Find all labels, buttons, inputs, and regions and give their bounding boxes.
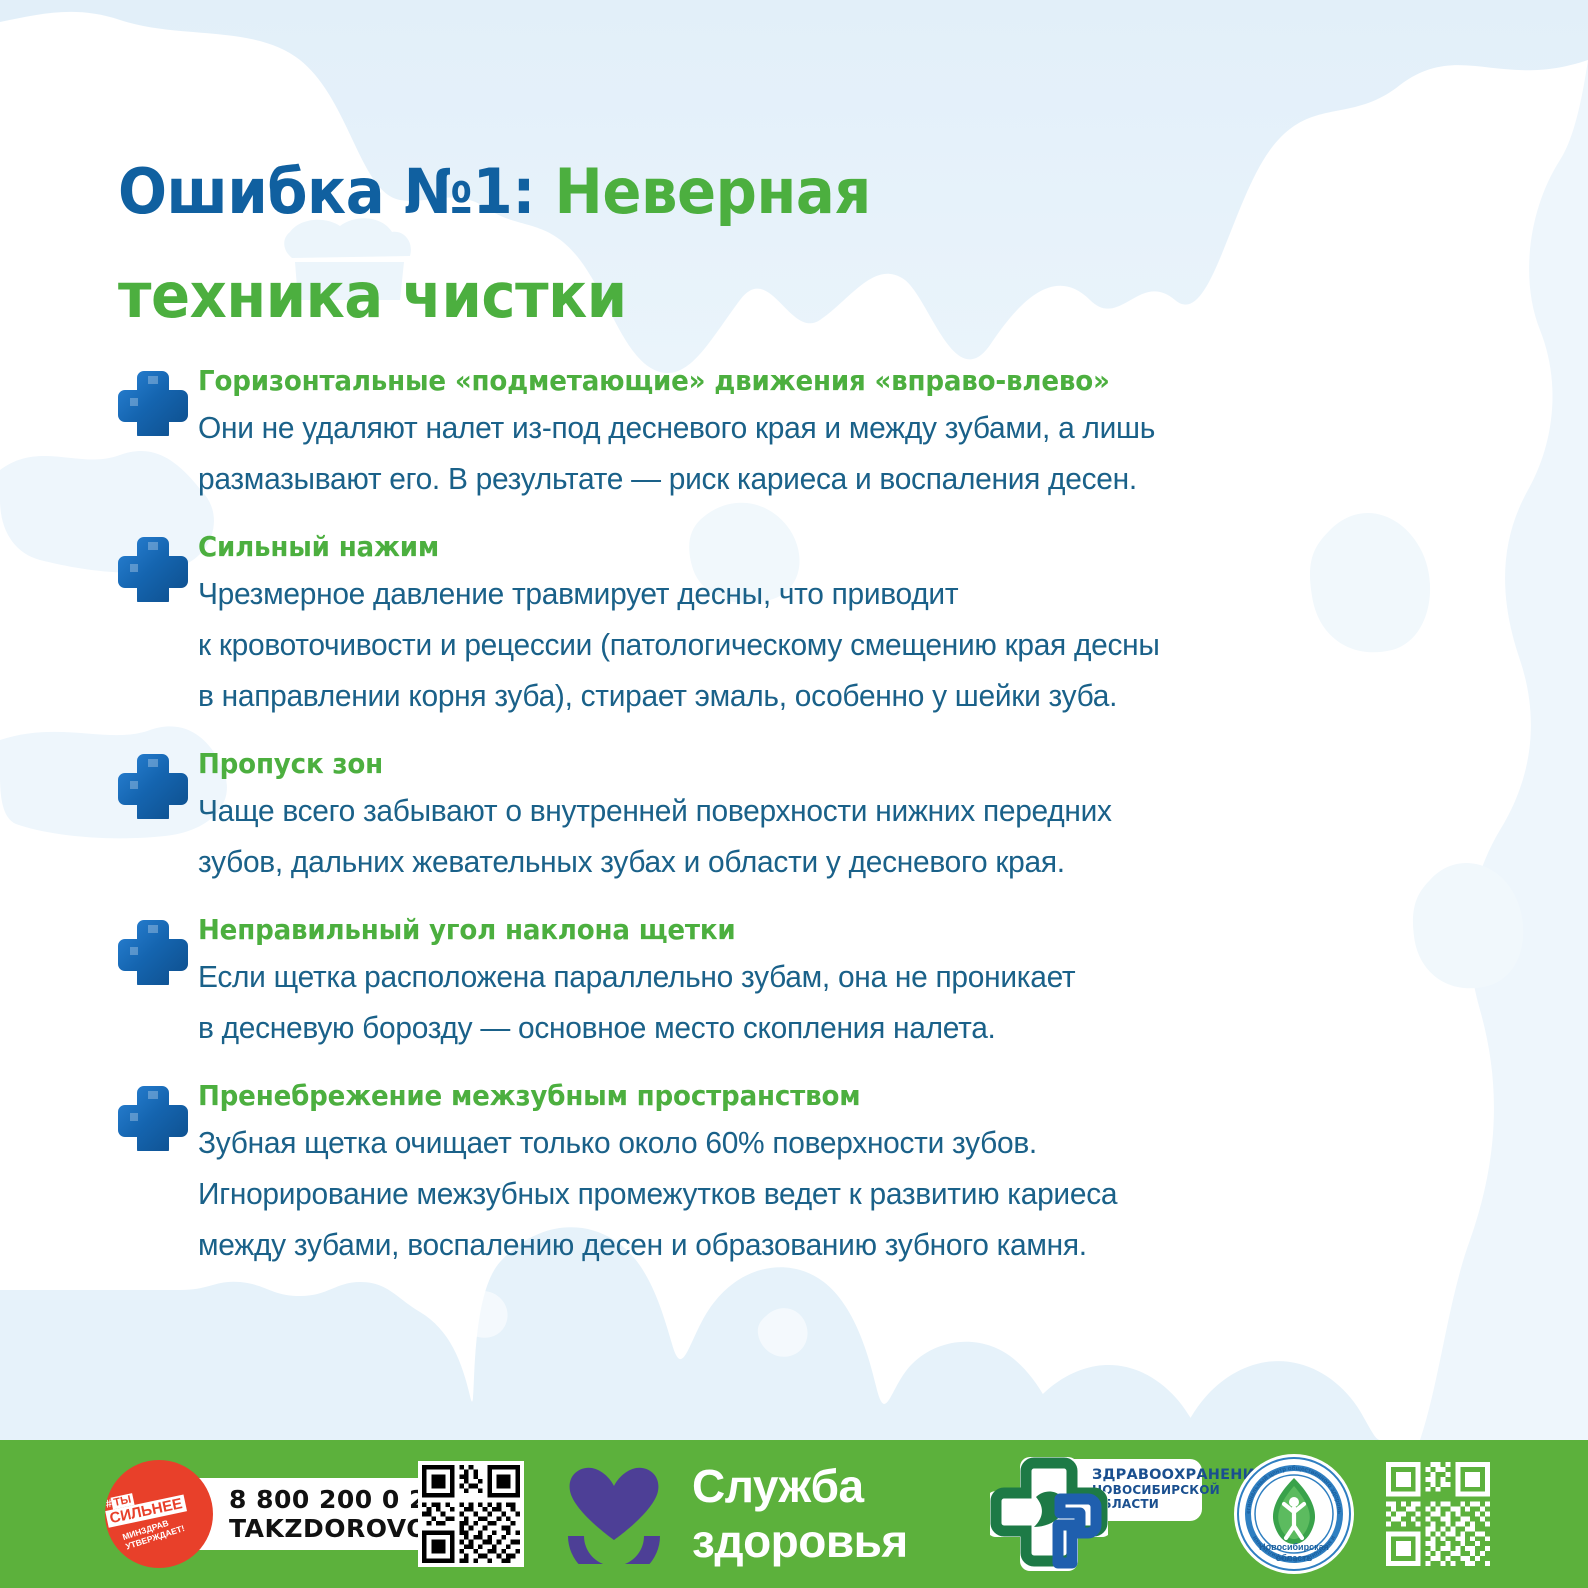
poster-content: Ошибка №1: Неверная техника чистки bbox=[0, 0, 1588, 1440]
list-item-text: Чрезмерное давление травмирует десны, чт… bbox=[198, 568, 1472, 721]
blue-cross-icon bbox=[118, 360, 194, 441]
footer-bar: #ТЫ СИЛЬНЕЕ МИНЗДРАВ УТВЕРЖДАЕТ! 8 800 2… bbox=[0, 1440, 1588, 1588]
seal-center-line-1: Новосибирская bbox=[1259, 1542, 1329, 1552]
sluzhba-line-1: Служба bbox=[692, 1459, 908, 1514]
list-item-heading: Сильный нажим bbox=[198, 526, 1452, 568]
title-line-2: техника чистки bbox=[118, 244, 1234, 348]
qr-code-icon[interactable] bbox=[1386, 1462, 1490, 1566]
list-item-body: Горизонтальные «подметающие» движения «в… bbox=[194, 360, 1518, 504]
list-item: Пропуск зон Чаще всего забывают о внутре… bbox=[118, 743, 1518, 887]
ty-silnee-stamp-icon: #ТЫ СИЛЬНЕЕ МИНЗДРАВ УТВЕРЖДАЕТ! bbox=[105, 1460, 213, 1568]
list-item: Горизонтальные «подметающие» движения «в… bbox=[118, 360, 1518, 504]
list-item-text: Они не удаляют налет из-под десневого кр… bbox=[198, 402, 1472, 504]
seal-center-line-2: область bbox=[1276, 1553, 1313, 1563]
list-item-body: Пропуск зон Чаще всего забывают о внутре… bbox=[194, 743, 1518, 887]
title-line-1: Ошибка №1: Неверная bbox=[118, 140, 1234, 244]
text-line: размазывают его. В результате — риск кар… bbox=[198, 453, 1472, 504]
sluzhba-zdorovya-block: Служба здоровья bbox=[560, 1459, 908, 1569]
list-item-body: Неправильный угол наклона щетки Если щет… bbox=[194, 909, 1518, 1053]
text-line: в десневую борозду — основное место скоп… bbox=[198, 1002, 1472, 1053]
blue-cross-icon bbox=[118, 1075, 194, 1156]
text-line: Они не удаляют налет из-под десневого кр… bbox=[198, 402, 1472, 453]
list-item-text: Зубная щетка очищает только около 60% по… bbox=[198, 1117, 1472, 1270]
list-item-text: Чаще всего забывают о внутренней поверхн… bbox=[198, 785, 1472, 887]
list-item: Сильный нажим Чрезмерное давление травми… bbox=[118, 526, 1518, 721]
text-line: к кровоточивости и рецессии (патологичес… bbox=[198, 619, 1472, 670]
text-line: Чаще всего забывают о внутренней поверхн… bbox=[198, 785, 1472, 836]
text-line: в направлении корня зуба), стирает эмаль… bbox=[198, 670, 1472, 721]
sluzhba-zdorovya-text: Служба здоровья bbox=[692, 1459, 908, 1569]
qr-code-icon[interactable] bbox=[418, 1461, 524, 1567]
list-item-heading: Пренебрежение межзубным пространством bbox=[198, 1075, 1452, 1117]
text-line: Чрезмерное давление травмирует десны, чт… bbox=[198, 568, 1472, 619]
text-line: зубов, дальних жевательных зубах и облас… bbox=[198, 836, 1472, 887]
sluzhba-line-2: здоровья bbox=[692, 1514, 908, 1569]
heart-smile-icon bbox=[560, 1464, 668, 1564]
title-line-2-text: техника чистки bbox=[118, 259, 627, 332]
text-line: Зубная щетка очищает только около 60% по… bbox=[198, 1117, 1472, 1168]
minzdrav-nso-block: ЗДРАВООХРАНЕНИЕ НОВОСИБИРСКОЙ ОБЛАСТИ bbox=[990, 1453, 1215, 1575]
list-item-body: Пренебрежение межзубным пространством Зу… bbox=[194, 1075, 1518, 1270]
poster-root: Ошибка №1: Неверная техника чистки bbox=[0, 0, 1588, 1588]
list-item: Пренебрежение межзубным пространством Зу… bbox=[118, 1075, 1518, 1270]
green-blue-cross-icon bbox=[990, 1453, 1108, 1575]
blue-cross-icon bbox=[118, 743, 194, 824]
list-item-heading: Пропуск зон bbox=[198, 743, 1452, 785]
list-item-heading: Горизонтальные «подметающие» движения «в… bbox=[198, 360, 1452, 402]
text-line: Если щетка расположена параллельно зубам… bbox=[198, 951, 1472, 1002]
title-word-incorrect: Неверная bbox=[555, 155, 871, 228]
list-item-body: Сильный нажим Чрезмерное давление травми… bbox=[194, 526, 1518, 721]
round-seal-leaf-icon: Региональный центр общественного здоровь… bbox=[1232, 1452, 1356, 1576]
blue-cross-icon bbox=[118, 526, 194, 607]
text-line: между зубами, воспалению десен и образов… bbox=[198, 1219, 1472, 1270]
text-line: Игнорирование межзубных промежутков веде… bbox=[198, 1168, 1472, 1219]
list-item: Неправильный угол наклона щетки Если щет… bbox=[118, 909, 1518, 1053]
list-item-text: Если щетка расположена параллельно зубам… bbox=[198, 951, 1472, 1053]
mistake-list: Горизонтальные «подметающие» движения «в… bbox=[118, 360, 1518, 1292]
page-title: Ошибка №1: Неверная техника чистки bbox=[118, 140, 1318, 348]
blue-cross-icon bbox=[118, 909, 194, 990]
title-error-label: Ошибка №1: bbox=[118, 155, 535, 228]
list-item-heading: Неправильный угол наклона щетки bbox=[198, 909, 1452, 951]
